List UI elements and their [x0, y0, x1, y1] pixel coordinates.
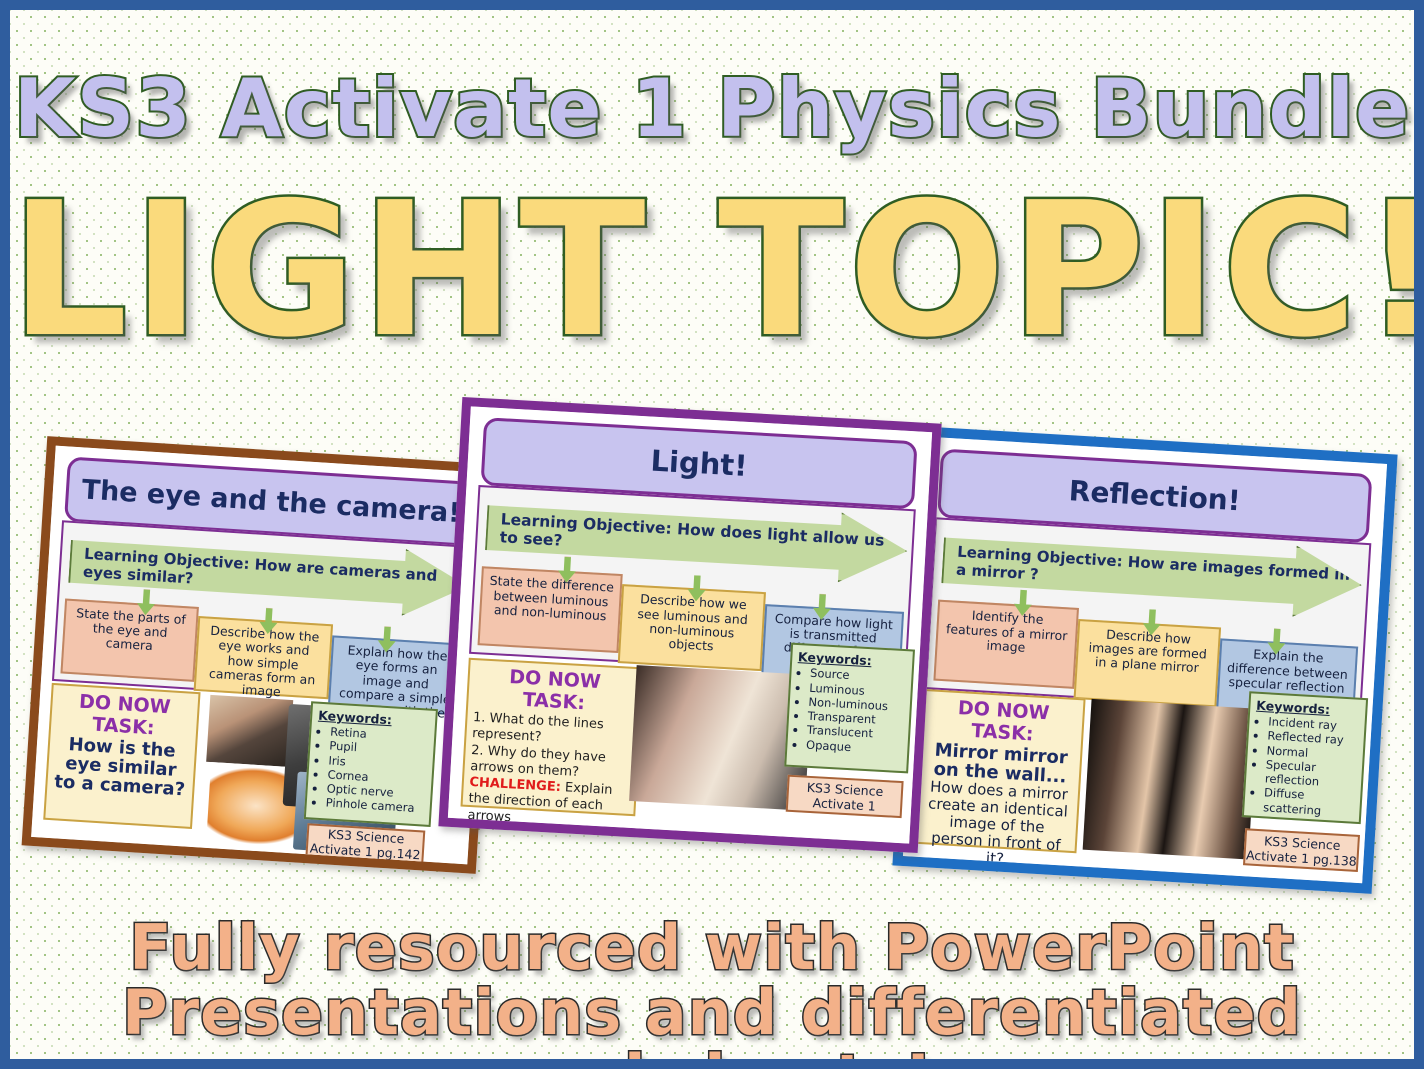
- learning-objective-text-reflection: Learning Objective: How are images forme…: [944, 542, 1361, 603]
- slide-card-reflection[interactable]: Reflection! Learning Objective: How are …: [892, 426, 1397, 894]
- objective-box-2: Describe how we see luminous and non-lum…: [618, 584, 766, 671]
- reference-box-eye: KS3 Science Activate 1 pg.142: [306, 823, 426, 866]
- poster-canvas: KS3 Activate 1 Physics Bundle LIGHT TOPI…: [0, 0, 1424, 1069]
- slide-inner: The eye and the camera! Learning Objecti…: [31, 446, 492, 865]
- reference-box-light: KS3 Science Activate 1: [786, 775, 903, 818]
- woman-facing-mirror-reflection-photo: [1083, 699, 1257, 860]
- keyword-item: Diffuse scattering: [1263, 786, 1355, 820]
- objective-box-1: State the parts of the eye and camera: [61, 598, 199, 681]
- slide-card-light[interactable]: Light! Learning Objective: How does ligh…: [438, 397, 941, 853]
- learning-objective-block-eye: Learning Objective: How are cameras and …: [52, 521, 476, 708]
- reference-box-reflection: KS3 Science Activate 1 pg.138: [1243, 828, 1360, 873]
- learning-objective-text-light: Learning Objective: How does light allow…: [487, 510, 906, 569]
- slide-inner: Light! Learning Objective: How does ligh…: [448, 406, 932, 843]
- objective-box-2: Describe how images are formed in a plan…: [1073, 618, 1220, 707]
- do-now-heading: DO NOW TASK:: [474, 665, 636, 718]
- do-now-body: How is the eye similar to a camera?: [53, 735, 189, 800]
- reference-line-2: Activate 1: [812, 795, 876, 814]
- page-subtitle: KS3 Activate 1 Physics Bundle: [10, 62, 1414, 155]
- objective-box-1: State the difference between luminous an…: [478, 567, 624, 654]
- page-title: LIGHT TOPIC!: [10, 178, 1414, 363]
- keywords-list: Incident ray Reflected ray Normal Specul…: [1250, 714, 1359, 820]
- keywords-list: Retina Pupil Iris Cornea Optic nerve Pin…: [312, 724, 428, 816]
- do-now-body: How does a mirror create an identical im…: [922, 779, 1072, 871]
- keywords-list: Source Luminous Non-luminous Transparent…: [793, 665, 906, 756]
- objective-box-1: Identify the features of a mirror image: [933, 600, 1078, 689]
- do-now-task-box-light: DO NOW TASK: 1. What do the lines repres…: [460, 658, 644, 816]
- reference-line-2: Activate 1 pg.138: [1246, 847, 1358, 869]
- slide-inner: Reflection! Learning Objective: How are …: [903, 437, 1387, 884]
- keywords-box-reflection: Keywords: Incident ray Reflected ray Nor…: [1242, 691, 1369, 824]
- eye-close-up-photo: [207, 695, 294, 767]
- learning-objective-block-reflection: Learning Objective: How are images forme…: [924, 517, 1370, 715]
- learning-objective-text-eye: Learning Objective: How are cameras and …: [71, 543, 467, 604]
- do-now-task-box-reflection: DO NOW TASK: Mirror mirror on the wall..…: [915, 689, 1085, 854]
- do-now-task-box-eye: DO NOW TASK: How is the eye similar to a…: [43, 683, 200, 829]
- keywords-box-light: Keywords: Source Luminous Non-luminous T…: [784, 643, 915, 773]
- do-now-challenge: CHALLENGE: Explain the direction of each…: [467, 775, 629, 833]
- keywords-box-eye: Keywords: Retina Pupil Iris Cornea Optic…: [304, 701, 438, 826]
- objective-box-2: Describe how the eye works and how simpl…: [193, 616, 333, 700]
- footer-caption: Fully resourced with PowerPoint Presenta…: [10, 915, 1414, 1069]
- slide-card-eye-and-camera[interactable]: The eye and the camera! Learning Objecti…: [22, 436, 502, 874]
